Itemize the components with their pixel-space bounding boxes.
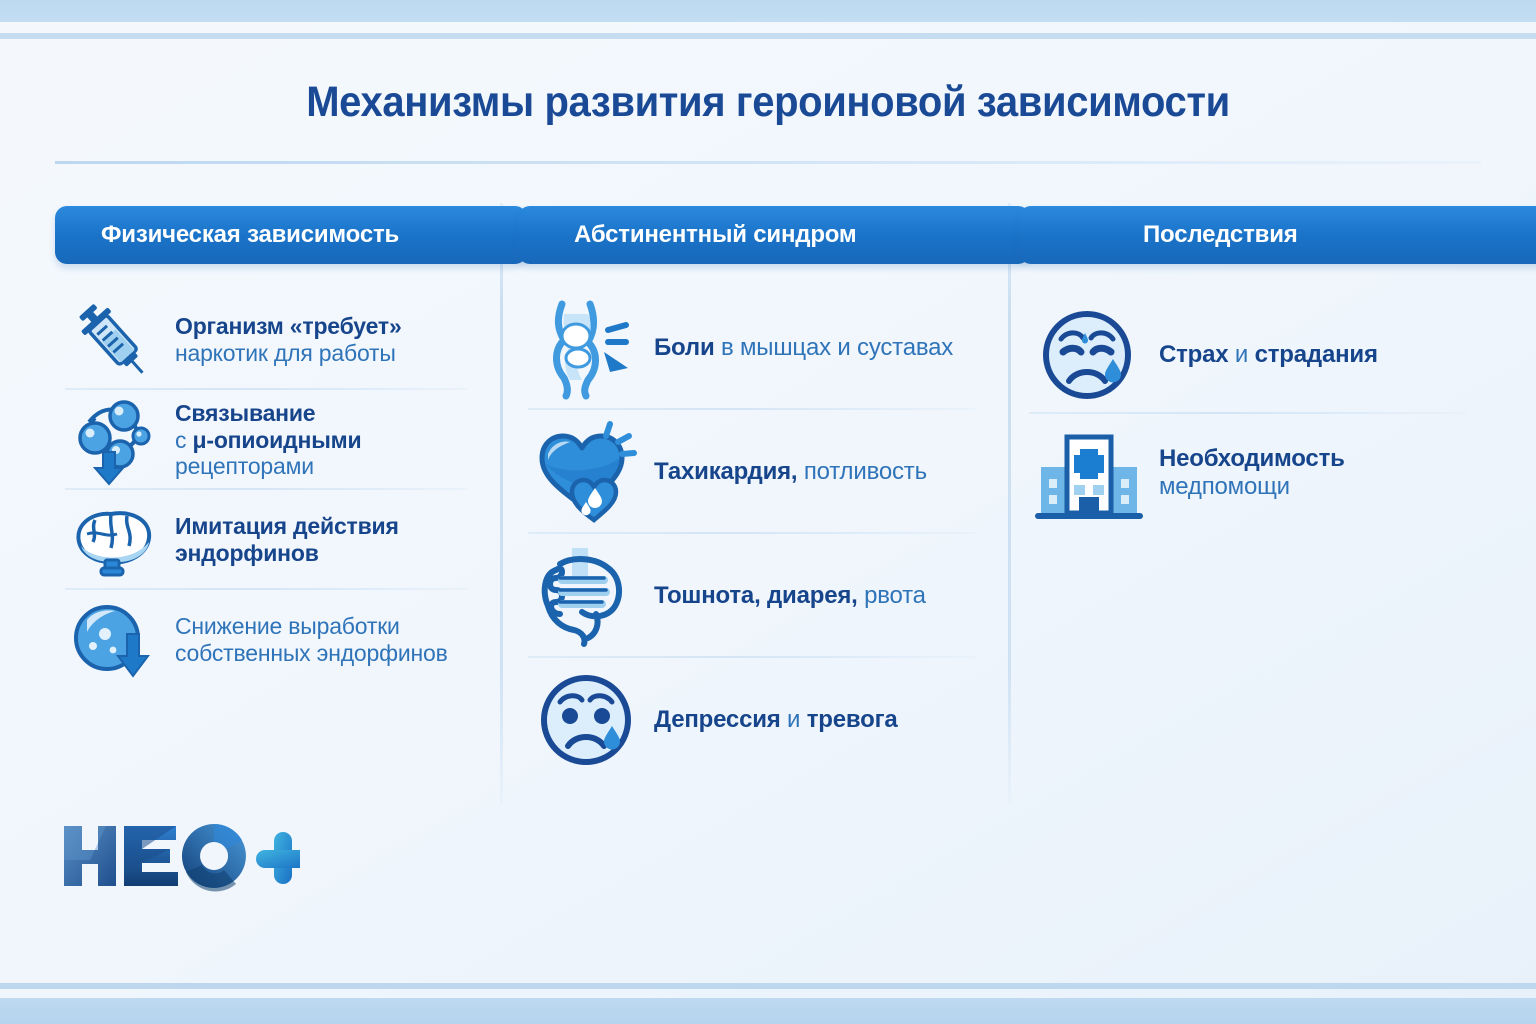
item-text-regular: в мышцах и суставах — [715, 334, 954, 361]
item-line-regular: рецепторами — [175, 453, 314, 479]
column-header-physical: Физическая зависимость — [55, 206, 527, 264]
bottom-decorative-band — [0, 998, 1536, 1024]
column-3-items: Страх и страдания — [1019, 296, 1481, 532]
list-item-text: Организм «требует» наркотик для работы — [175, 313, 402, 367]
list-item-text: Депрессия и тревога — [654, 706, 898, 734]
column-consequences: Последствия — [1009, 206, 1536, 826]
item-text-bold-2: тревога — [807, 706, 898, 733]
item-line-regular-2: собственных эндорфинов — [175, 640, 448, 666]
item-text-bold: Боли — [654, 334, 715, 361]
item-line-regular: наркотик для работы — [175, 340, 396, 366]
item-line-bold: Имитация действия — [175, 513, 399, 539]
list-item[interactable]: Боли в мышцах и суставах — [518, 286, 989, 410]
list-item[interactable]: Депрессия и тревога — [518, 658, 989, 782]
column-1-items: Организм «требует» наркотик для работы — [55, 290, 481, 690]
brain-icon — [65, 494, 161, 586]
columns-container: Физическая зависимость — [0, 206, 1536, 826]
list-item-text: Тахикардия, потливость — [654, 458, 927, 486]
column-physical-dependence: Физическая зависимость — [0, 206, 501, 826]
item-text-bold: Депрессия — [654, 706, 781, 733]
list-item-text: Снижение выработки собственных эндорфино… — [175, 613, 448, 667]
list-item-text: Связывание с μ-опиоидными рецепторами — [175, 400, 361, 481]
column-header-withdrawal: Абстинентный синдром — [518, 206, 1030, 264]
cell-decrease-icon — [65, 594, 161, 686]
heart-sweat-icon — [534, 420, 642, 524]
list-item-text: Необходимость медпомощи — [1159, 445, 1345, 501]
item-text-bold: Тахикардия, — [654, 458, 797, 485]
list-item[interactable]: Тахикардия, потливость — [518, 410, 989, 534]
brand-logo[interactable] — [60, 820, 300, 892]
top-decorative-band — [0, 0, 1536, 22]
item-text-regular: потливость — [797, 458, 926, 485]
list-item[interactable]: Связывание с μ-опиоидными рецепторами — [55, 390, 481, 490]
molecule-receptor-icon — [65, 394, 161, 486]
item-line-bold: Организм «требует» — [175, 313, 402, 339]
item-line-bold-2: μ-опиоидными — [193, 427, 362, 453]
item-line-bold-2: эндорфинов — [175, 540, 319, 566]
item-text-regular: и — [1228, 341, 1254, 368]
list-item[interactable]: Страх и страдания — [1019, 296, 1481, 414]
item-line-regular: Снижение выработки — [175, 613, 400, 639]
sad-face-tear-icon — [534, 668, 642, 772]
crying-face-icon — [1033, 305, 1145, 405]
list-item-text: Боли в мышцах и суставах — [654, 334, 953, 362]
bottom-accent-line — [0, 983, 1536, 989]
hospital-icon — [1033, 423, 1145, 523]
column-2-items: Боли в мышцах и суставах — [518, 286, 989, 782]
intestines-icon — [534, 544, 642, 648]
knee-joint-pain-icon — [534, 296, 642, 400]
syringe-icon — [65, 294, 161, 386]
item-text-bold-2: страдания — [1255, 341, 1378, 368]
item-text-regular: рвота — [858, 582, 926, 609]
top-accent-line — [0, 33, 1536, 39]
page-title: Механизмы развития героиновой зависимост… — [54, 78, 1482, 127]
column-header-consequences: Последствия — [1019, 206, 1536, 264]
item-line-bold: Необходимость — [1159, 445, 1345, 472]
column-withdrawal-syndrome: Абстинентный синдром — [501, 206, 1009, 826]
list-item[interactable]: Имитация действия эндорфинов — [55, 490, 481, 590]
list-item[interactable]: Необходимость медпомощи — [1019, 414, 1481, 532]
item-line-regular: медпомощи — [1159, 473, 1290, 500]
list-item[interactable]: Организм «требует» наркотик для работы — [55, 290, 481, 390]
list-item[interactable]: Снижение выработки собственных эндорфино… — [55, 590, 481, 690]
list-item-text: Тошнота, диарея, рвота — [654, 582, 926, 610]
list-item[interactable]: Тошнота, диарея, рвота — [518, 534, 989, 658]
list-item-text: Имитация действия эндорфинов — [175, 513, 399, 567]
infographic-slide: Механизмы развития героиновой зависимост… — [0, 0, 1536, 1024]
list-item-text: Страх и страдания — [1159, 341, 1378, 369]
item-text-regular: и — [781, 706, 807, 733]
item-text-bold: Страх — [1159, 341, 1228, 368]
item-text-bold: Тошнота, диарея, — [654, 582, 858, 609]
item-line-bold: Связывание — [175, 400, 315, 426]
item-line-prefix: с — [175, 427, 193, 453]
title-divider — [55, 161, 1481, 164]
